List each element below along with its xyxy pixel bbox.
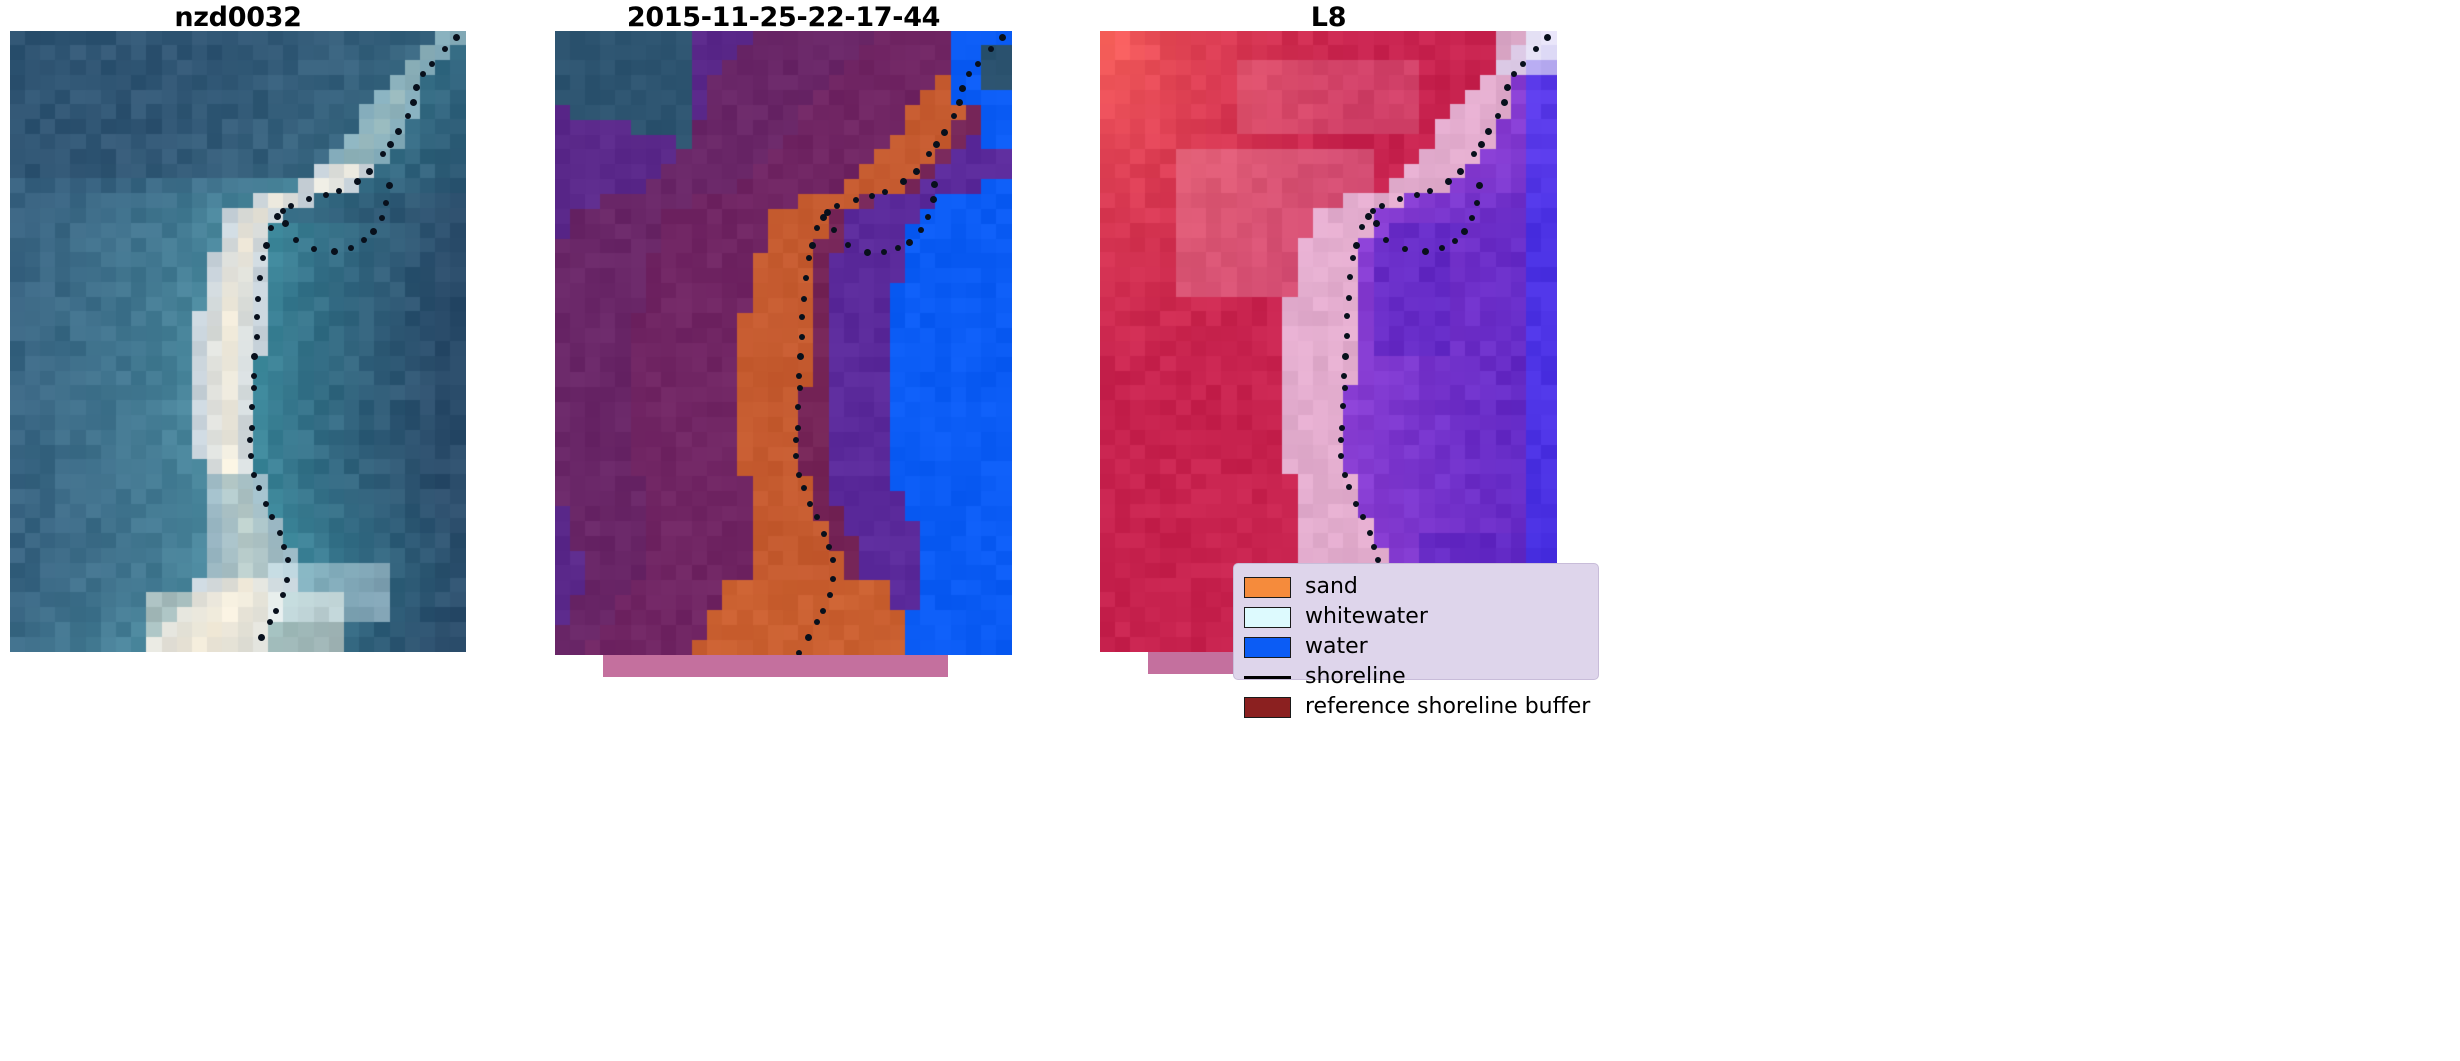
panel-index-title: L8 bbox=[1100, 2, 1557, 33]
legend-line-shoreline bbox=[1244, 676, 1291, 679]
panel-classification-axes bbox=[555, 31, 1012, 655]
legend-item-sand: sand bbox=[1244, 572, 1588, 602]
legend-swatch-whitewater bbox=[1244, 607, 1291, 628]
legend-label-reference-buffer: reference shoreline buffer bbox=[1305, 696, 1590, 718]
bottom-strip-classification bbox=[603, 655, 948, 677]
legend-label-whitewater: whitewater bbox=[1305, 606, 1428, 628]
panel-index: L8 bbox=[1075, 0, 1585, 1061]
legend: sand whitewater water shoreline referenc… bbox=[1233, 563, 1599, 680]
legend-item-water: water bbox=[1244, 632, 1588, 662]
legend-item-reference-buffer: reference shoreline buffer bbox=[1244, 692, 1588, 722]
panel-classification-title: 2015-11-25-22-17-44 bbox=[555, 2, 1012, 33]
legend-label-water: water bbox=[1305, 636, 1368, 658]
panel-rgb-title: nzd0032 bbox=[0, 2, 476, 33]
legend-label-shoreline: shoreline bbox=[1305, 666, 1406, 688]
shoreline-qa-figure: nzd0032 2015-11-25-22-17-44 L8 sand whi bbox=[0, 0, 2460, 1061]
panel-rgb: nzd0032 bbox=[0, 0, 476, 1061]
legend-item-whitewater: whitewater bbox=[1244, 602, 1588, 632]
rgb-raster bbox=[10, 31, 466, 652]
legend-swatch-sand bbox=[1244, 577, 1291, 598]
index-raster bbox=[1100, 31, 1557, 652]
legend-swatch-water bbox=[1244, 637, 1291, 658]
panel-index-axes bbox=[1100, 31, 1557, 652]
panel-classification: 2015-11-25-22-17-44 bbox=[530, 0, 1040, 1061]
legend-label-sand: sand bbox=[1305, 576, 1358, 598]
panel-rgb-axes bbox=[10, 31, 466, 652]
legend-swatch-reference-buffer bbox=[1244, 697, 1291, 718]
classification-raster bbox=[555, 31, 1012, 655]
legend-item-shoreline: shoreline bbox=[1244, 662, 1588, 692]
